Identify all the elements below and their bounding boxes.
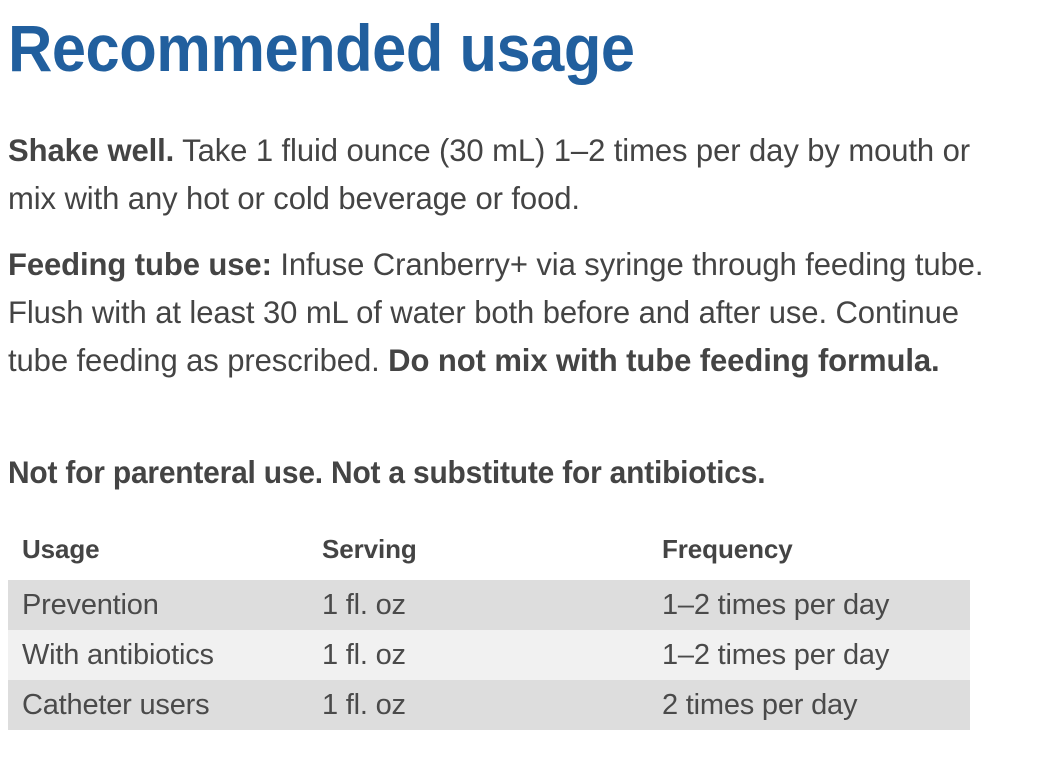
- feeding-tube-lead: Feeding tube use:: [8, 246, 272, 282]
- cell-serving: 1 fl. oz: [308, 630, 648, 680]
- warning-paragraph: Not for parenteral use. Not a substitute…: [8, 450, 1034, 494]
- cell-frequency: 1–2 times per day: [648, 630, 970, 680]
- feeding-tube-paragraph: Feeding tube use: Infuse Cranberry+ via …: [8, 240, 1034, 384]
- shake-well-paragraph: Shake well. Take 1 fluid ounce (30 mL) 1…: [8, 126, 1034, 222]
- feeding-tube-text: Feeding tube use: Infuse Cranberry+ via …: [8, 240, 1019, 384]
- table-row: With antibiotics 1 fl. oz 1–2 times per …: [8, 630, 970, 680]
- cell-usage: With antibiotics: [8, 630, 308, 680]
- cell-usage: Catheter users: [8, 680, 308, 730]
- cell-frequency: 2 times per day: [648, 680, 970, 730]
- table-header-row: Usage Serving Frequency: [8, 534, 970, 580]
- cell-serving: 1 fl. oz: [308, 580, 648, 630]
- column-header-frequency: Frequency: [648, 534, 970, 580]
- usage-table-header: Usage Serving Frequency: [8, 534, 970, 580]
- cell-frequency: 1–2 times per day: [648, 580, 970, 630]
- shake-well-text: Shake well. Take 1 fluid ounce (30 mL) 1…: [8, 126, 1019, 222]
- table-row: Catheter users 1 fl. oz 2 times per day: [8, 680, 970, 730]
- usage-panel: Recommended usage Shake well. Take 1 flu…: [0, 0, 1042, 778]
- feeding-tube-emphasis: Do not mix with tube feeding formula.: [388, 342, 939, 378]
- usage-table-wrapper: Usage Serving Frequency Prevention 1 fl.…: [8, 534, 970, 730]
- table-row: Prevention 1 fl. oz 1–2 times per day: [8, 580, 970, 630]
- column-header-usage: Usage: [8, 534, 308, 580]
- usage-table-body: Prevention 1 fl. oz 1–2 times per day Wi…: [8, 580, 970, 730]
- usage-table: Usage Serving Frequency Prevention 1 fl.…: [8, 534, 970, 730]
- warning-text: Not for parenteral use. Not a substitute…: [8, 450, 983, 494]
- column-header-serving: Serving: [308, 534, 648, 580]
- shake-well-lead: Shake well.: [8, 132, 174, 168]
- cell-serving: 1 fl. oz: [308, 680, 648, 730]
- page-title: Recommended usage: [8, 8, 635, 88]
- cell-usage: Prevention: [8, 580, 308, 630]
